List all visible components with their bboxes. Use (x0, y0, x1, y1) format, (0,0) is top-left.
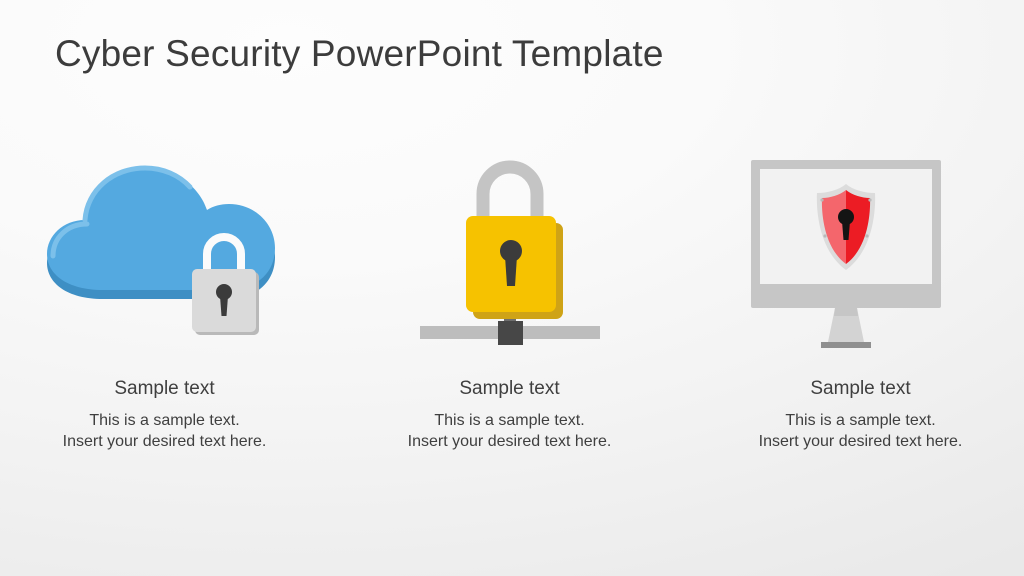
caption-body: This is a sample text. Insert your desir… (63, 410, 267, 452)
caption-title: Sample text (759, 376, 963, 402)
feature-column-padlock[interactable]: Sample text This is a sample text. Inser… (341, 150, 682, 452)
monitor-with-shield-svg (731, 150, 991, 360)
padlock-keyhole-stem (505, 256, 517, 286)
padlock-shackle (483, 167, 537, 222)
monitor-stand-shade (834, 308, 858, 316)
caption-line-2: Insert your desired text here. (63, 431, 267, 452)
caption-line-2: Insert your desired text here. (759, 431, 963, 452)
shield-rivet (823, 234, 826, 237)
monitor-with-shield-icon (731, 150, 991, 360)
feature-columns: Sample text This is a sample text. Inser… (0, 150, 1024, 452)
caption-line-1: This is a sample text. (408, 410, 612, 431)
shield-rivet (820, 198, 823, 201)
caption-block: Sample text This is a sample text. Inser… (63, 376, 267, 452)
feature-column-monitor[interactable]: Sample text This is a sample text. Inser… (682, 150, 1023, 452)
monitor-base (821, 342, 871, 348)
network-connector (498, 321, 523, 345)
shield-rivet (865, 234, 868, 237)
caption-line-1: This is a sample text. (63, 410, 267, 431)
feature-column-cloud[interactable]: Sample text This is a sample text. Inser… (0, 150, 341, 452)
cloud-with-padlock-svg (37, 150, 297, 360)
caption-line-1: This is a sample text. (759, 410, 963, 431)
caption-line-2: Insert your desired text here. (408, 431, 612, 452)
caption-title: Sample text (408, 376, 612, 402)
caption-body: This is a sample text. Insert your desir… (759, 410, 963, 452)
slide-canvas: Cyber Security PowerPoint Template (0, 0, 1024, 576)
shield-rivet (868, 198, 871, 201)
caption-body: This is a sample text. Insert your desir… (408, 410, 612, 452)
page-title: Cyber Security PowerPoint Template (55, 33, 664, 75)
network-padlock-svg (380, 150, 640, 360)
caption-block: Sample text This is a sample text. Inser… (408, 376, 612, 452)
caption-block: Sample text This is a sample text. Inser… (759, 376, 963, 452)
cloud-with-padlock-icon (37, 150, 297, 360)
caption-title: Sample text (63, 376, 267, 402)
network-padlock-icon (380, 150, 640, 360)
